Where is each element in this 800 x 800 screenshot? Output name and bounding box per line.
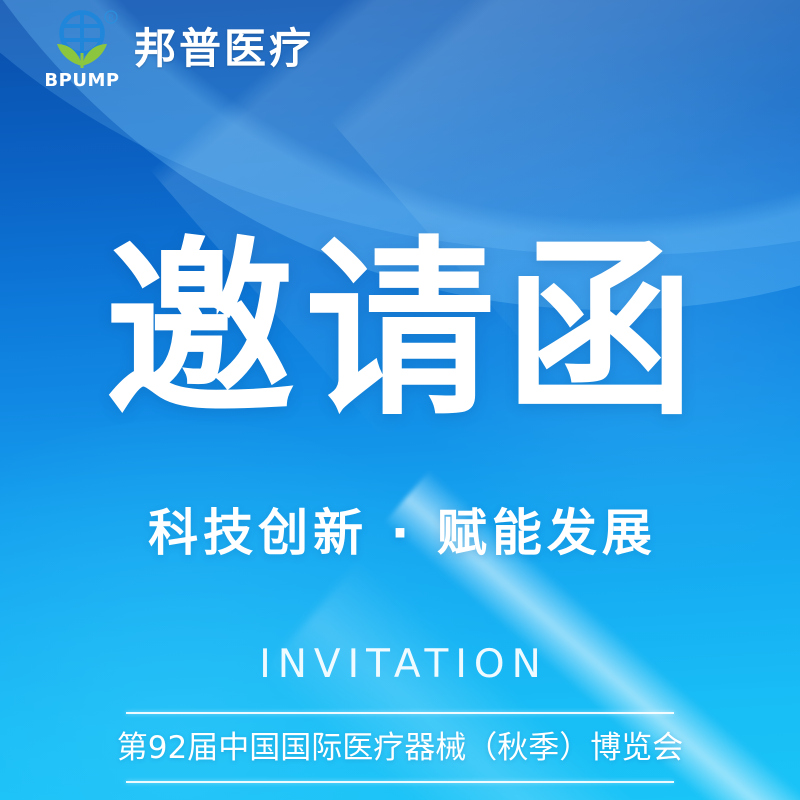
invitation-poster: R BPUMP 邦普医疗 邀请函 科技创新 · 赋能发展 INVITATION …: [0, 0, 800, 800]
event-name: 第92届中国国际医疗器械（秋季）博览会: [90, 714, 710, 781]
svg-text:R: R: [108, 13, 114, 22]
title-english: INVITATION: [0, 645, 800, 684]
brand-lockup: R BPUMP 邦普医疗: [44, 8, 314, 90]
bpump-wordmark: BPUMP: [44, 70, 119, 90]
subtitle: 科技创新 · 赋能发展: [0, 503, 800, 563]
brand-name: 邦普医疗: [134, 28, 314, 70]
bpump-emblem-icon: R BPUMP: [44, 8, 120, 90]
footer-band: 第92届中国国际医疗器械（秋季）博览会: [126, 712, 674, 783]
divider-bottom: [126, 781, 674, 783]
page-title: 邀请函: [0, 236, 800, 426]
